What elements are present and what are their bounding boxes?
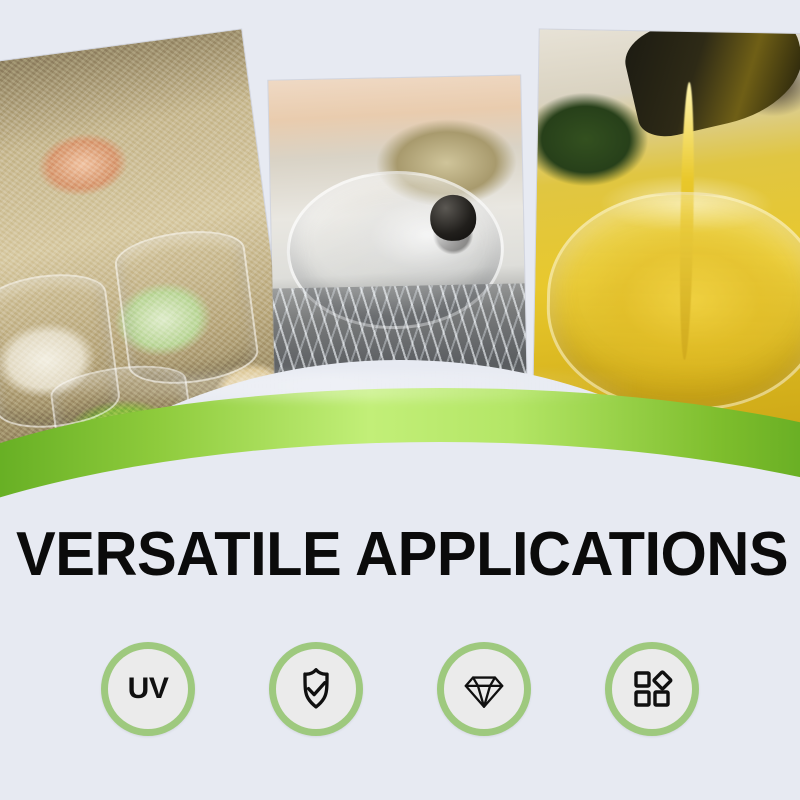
oil-bottle-shape (619, 29, 800, 143)
green-swoosh-divider (0, 330, 800, 500)
shapes-grid-icon (628, 665, 676, 713)
green-swoosh-highlight (10, 372, 800, 400)
uv-text-icon: UV (128, 672, 169, 706)
lid-knob-shape (429, 194, 476, 241)
feature-badge-shapes-grid[interactable] (605, 642, 699, 736)
feature-badge-row: UV (0, 641, 800, 737)
diamond-gem-icon (459, 664, 509, 714)
feature-badge-shield-check[interactable] (269, 642, 363, 736)
feature-badge-uv[interactable]: UV (101, 642, 195, 736)
page-title: VERSATILE APPLICATIONS (16, 523, 784, 587)
poster-canvas: VERSATILE APPLICATIONS UV (0, 0, 800, 800)
glass-lid-shape (285, 169, 505, 331)
feature-badge-diamond-gem[interactable] (437, 642, 531, 736)
shield-check-icon (291, 664, 341, 714)
